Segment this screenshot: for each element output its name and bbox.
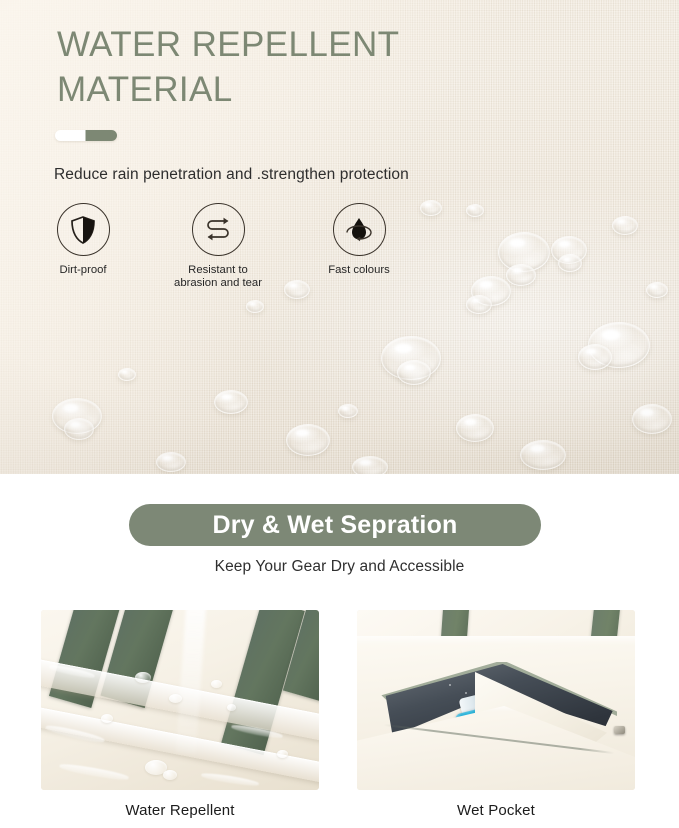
page-title: WATER REPELLENT MATERIAL — [57, 22, 399, 112]
photo-caption: Water Repellent — [41, 802, 319, 819]
card-water-repellent: Water Repellent — [41, 610, 319, 819]
feature-fast-colours: Fast colours — [294, 203, 424, 277]
product-feature-page: WATER REPELLENT MATERIAL Reduce rain pen… — [0, 0, 679, 828]
photo-card-row: Water Repellent — [0, 610, 679, 810]
hero-subheadline: Reduce rain penetration and .strengthen … — [54, 166, 409, 184]
dry-wet-separation-section: Dry & Wet Sepration Keep Your Gear Dry a… — [0, 474, 679, 828]
feature-abrasion-resistant: Resistant to abrasion and tear — [153, 203, 283, 290]
zipper-pull-icon — [614, 726, 625, 734]
accent-divider — [55, 130, 117, 141]
section-subtitle: Keep Your Gear Dry and Accessible — [0, 558, 679, 576]
wet-pocket-photo — [357, 610, 635, 790]
water-repellent-photo — [41, 610, 319, 790]
shield-icon — [57, 203, 110, 256]
feature-label: Dirt-proof — [18, 264, 148, 277]
section-title-badge: Dry & Wet Sepration — [129, 504, 541, 546]
hero-section: WATER REPELLENT MATERIAL Reduce rain pen… — [0, 0, 679, 474]
feature-label: Fast colours — [294, 264, 424, 277]
photo-caption: Wet Pocket — [357, 802, 635, 819]
feature-dirt-proof: Dirt-proof — [18, 203, 148, 277]
card-wet-pocket: Wet Pocket — [357, 610, 635, 819]
droplet-rotation-icon — [333, 203, 386, 256]
feature-icon-row: Dirt-proof Resistant to abrasion and tea… — [0, 203, 679, 298]
abrasion-arrows-icon — [192, 203, 245, 256]
feature-label: Resistant to abrasion and tear — [153, 264, 283, 290]
section-title: Dry & Wet Sepration — [212, 511, 457, 540]
